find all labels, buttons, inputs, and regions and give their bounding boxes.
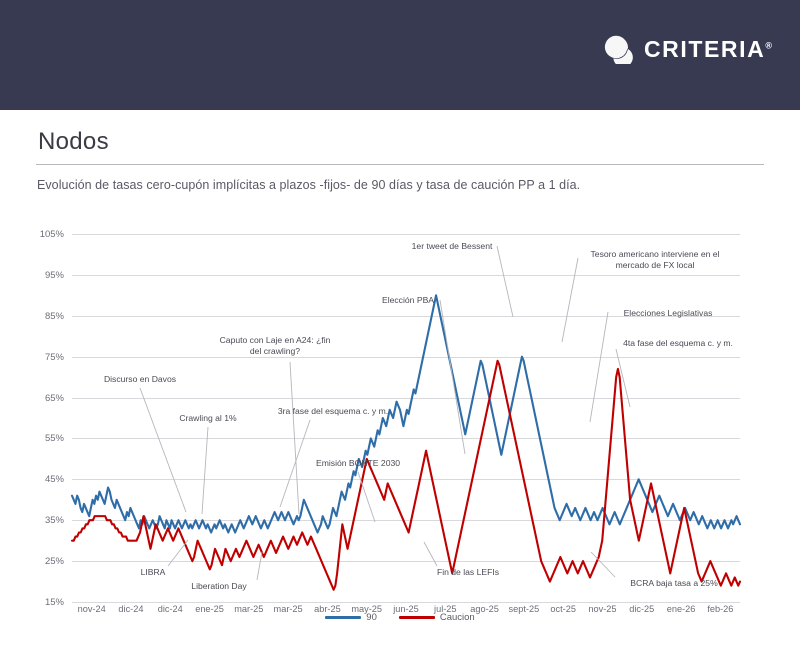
y-axis-tick-label: 105%	[4, 229, 64, 240]
legend-label: 90	[366, 612, 377, 623]
annotation-elecciones-legislativas: Elecciones Legislativas	[624, 308, 713, 319]
gridline	[72, 602, 740, 603]
series-lines-group	[72, 234, 740, 602]
series-line-90	[72, 295, 740, 532]
brand-name: CRITERIA®	[644, 38, 772, 61]
y-axis-tick-label: 65%	[4, 393, 64, 404]
annotation-liberation-day: Liberation Day	[191, 581, 246, 592]
y-axis-tick-label: 35%	[4, 515, 64, 526]
title-divider	[36, 164, 764, 165]
annotation-tercera-fase: 3ra fase del esquema c. y m.	[278, 406, 388, 417]
criteria-ring-logo-icon	[604, 34, 634, 64]
legend-item-90[interactable]: 90	[325, 612, 377, 623]
chart-legend: 90Caucion	[0, 612, 800, 623]
series-line-caucion	[72, 361, 740, 590]
annotation-emision-bonte-2030: Emisión BONTE 2030	[316, 458, 400, 469]
annotation-eleccion-pba: Elección PBA	[382, 295, 434, 306]
annotation-discurso-davos: Discurso en Davos	[104, 374, 176, 385]
annotation-libra: LIBRA	[141, 567, 166, 578]
annotation-primer-tweet-bessent: 1er tweet de Bessent	[412, 241, 493, 252]
slide-page: CRITERIA® Nodos Evolución de tasas cero-…	[0, 0, 800, 657]
brand-name-text: CRITERIA	[644, 36, 765, 62]
y-axis-tick-label: 85%	[4, 311, 64, 322]
annotation-caputo-laje: Caputo con Laje en A24: ¿fin del crawlin…	[220, 335, 331, 357]
y-axis-tick-label: 55%	[4, 433, 64, 444]
annotation-crawling-1: Crawling al 1%	[179, 413, 236, 424]
page-header: CRITERIA®	[0, 0, 800, 110]
annotation-cuarta-fase: 4ta fase del esquema c. y m.	[623, 338, 733, 349]
y-axis-tick-label: 45%	[4, 474, 64, 485]
page-title: Nodos	[38, 128, 109, 156]
y-axis-tick-label: 75%	[4, 352, 64, 363]
legend-label: Caucion	[440, 612, 475, 623]
legend-swatch-icon	[399, 616, 435, 619]
y-axis-tick-label: 15%	[4, 597, 64, 608]
brand-registered-mark: ®	[765, 40, 772, 50]
y-axis-tick-label: 25%	[4, 556, 64, 567]
chart-plot-area	[72, 234, 740, 602]
annotation-fin-lefis: Fin de las LEFIs	[437, 567, 499, 578]
legend-swatch-icon	[325, 616, 361, 619]
annotation-bcra-baja-tasa: BCRA baja tasa a 25%	[630, 578, 717, 589]
page-subtitle: Evolución de tasas cero-cupón implícitas…	[37, 178, 767, 192]
brand-lockup: CRITERIA®	[604, 34, 772, 64]
y-axis-tick-label: 95%	[4, 270, 64, 281]
annotation-tesoro-americano: Tesoro americano interviene en el mercad…	[591, 249, 720, 271]
legend-item-caucion[interactable]: Caucion	[399, 612, 475, 623]
chart-container: 15%25%35%45%55%65%75%85%95%105% nov-24di…	[0, 222, 800, 642]
